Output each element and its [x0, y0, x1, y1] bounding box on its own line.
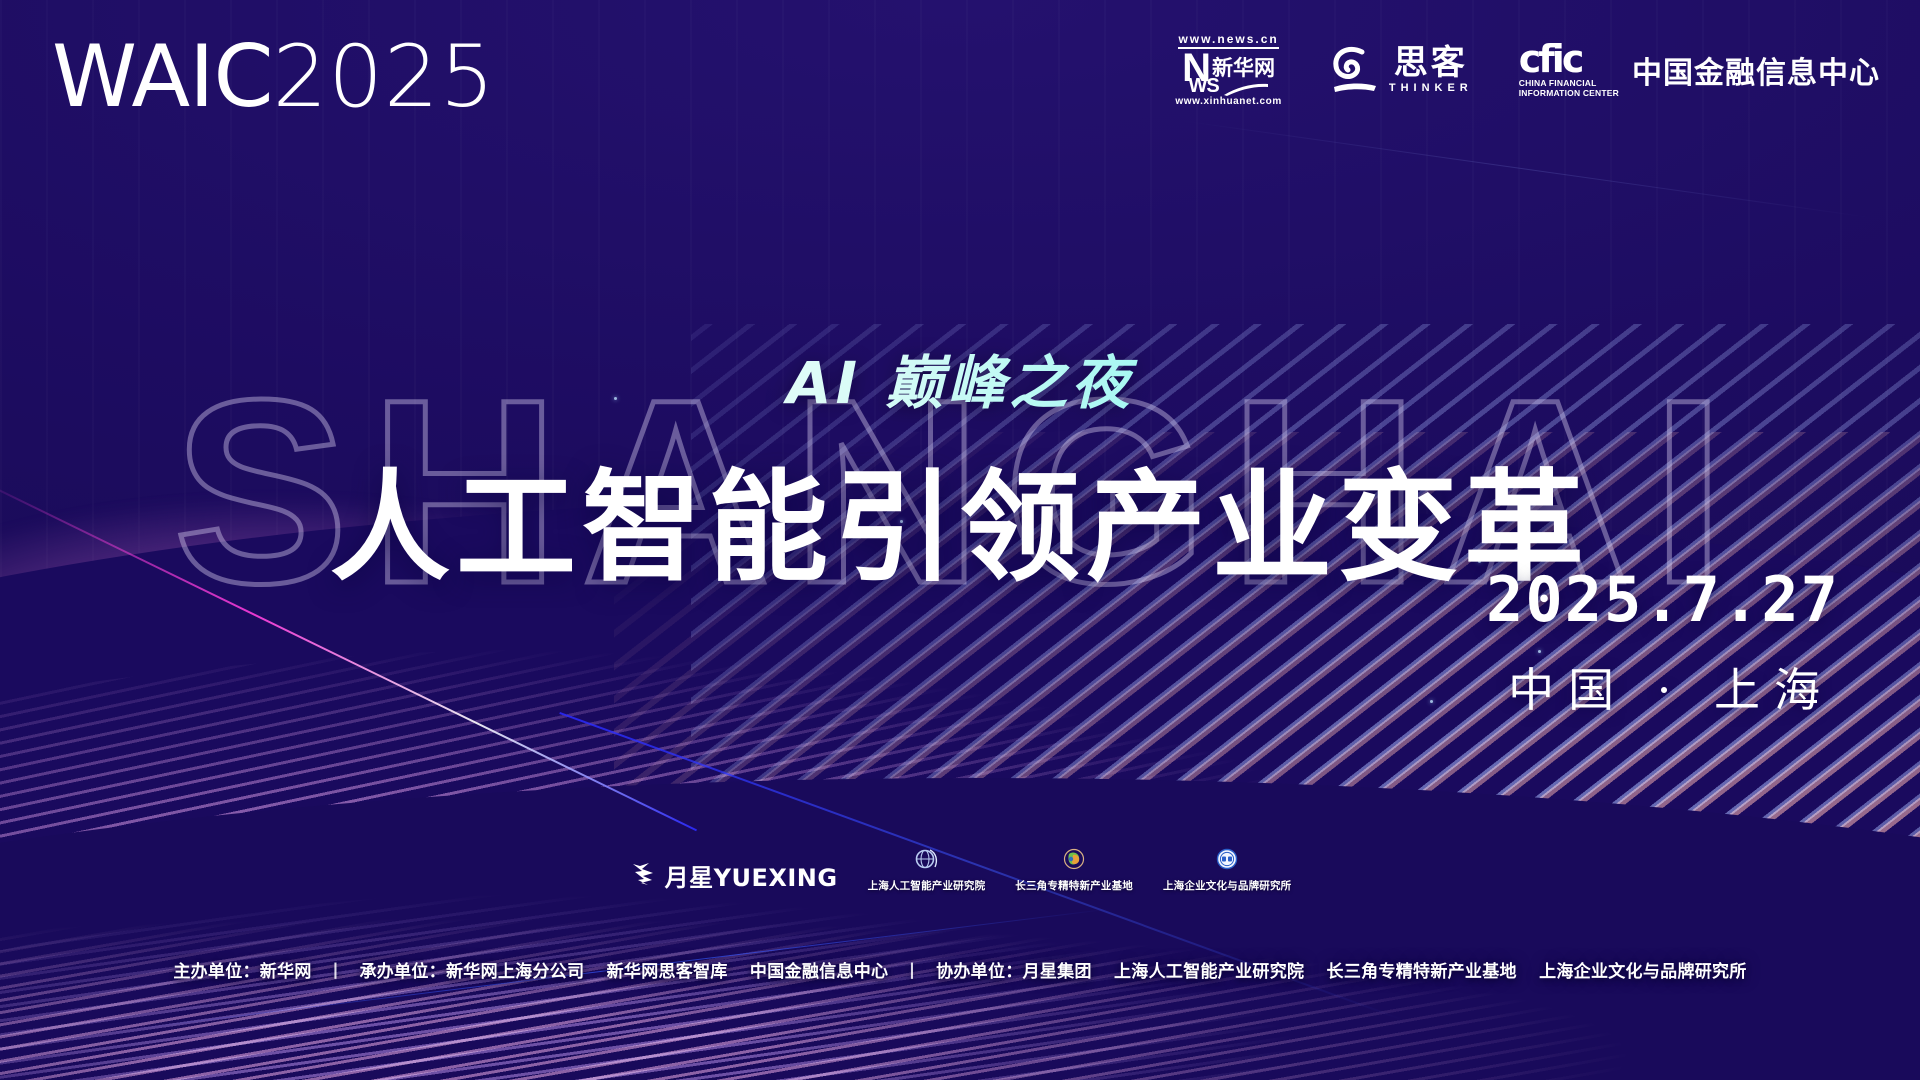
partner-logo-bar: www.news.cn N 新华网 WS www.xinhuanet.com	[1175, 34, 1880, 106]
xinhua-ws-letters: WS	[1188, 76, 1218, 96]
yrd-base-label: 长三角专精特新产业基地	[1015, 878, 1133, 893]
footer-organizer-3: 中国金融信息中心	[750, 962, 888, 982]
secbri-label: 上海企业文化与品牌研究所	[1163, 878, 1291, 893]
footer-coorganizer-2: 上海人工智能产业研究院	[1114, 962, 1304, 982]
footer-organizer: 承办单位：新华网上海分公司	[359, 962, 584, 982]
xinhua-cn-name: 新华网	[1212, 58, 1275, 79]
thinker-en-name: THINKER	[1389, 83, 1473, 94]
waic-logo-text: WAIC	[52, 27, 273, 127]
event-date: 2025.7.27	[1486, 563, 1840, 636]
footer-credits: 主办单位：新华网 丨 承办单位：新华网上海分公司 新华网思客智库 中国金融信息中…	[0, 957, 1920, 982]
xinhua-url-bottom: www.xinhuanet.com	[1175, 97, 1282, 107]
cfic-wordmark: cfic	[1519, 42, 1619, 76]
yuexing-label: 月星YUEXING	[665, 858, 838, 893]
sponsor-saiir[interactable]: 上海人工智能产业研究院	[868, 846, 986, 893]
footer-coorganizer-3: 长三角专精特新产业基地	[1327, 962, 1517, 982]
event-subtitle: AI 巅峰之夜	[0, 336, 1920, 420]
cfic-en-subtitle: CHINA FINANCIAL INFORMATION CENTER	[1519, 78, 1619, 98]
sponsor-yuexing[interactable]: 月星YUEXING	[629, 858, 838, 893]
partner-logo-cfic[interactable]: cfic CHINA FINANCIAL INFORMATION CENTER …	[1519, 42, 1880, 98]
sponsor-secbri[interactable]: 上海企业文化与品牌研究所	[1163, 846, 1291, 893]
footer-separator-2: 丨	[895, 962, 930, 982]
yrd-base-emblem-icon	[1059, 846, 1089, 876]
thinker-cn-name: 思客	[1394, 46, 1468, 80]
footer-separator-1: 丨	[318, 962, 353, 982]
sparkle-dot	[1430, 700, 1433, 703]
banner-canvas: SHANGHAI WAIC2025 www.news.cn N 新华网 WS	[0, 0, 1920, 1080]
saiir-label: 上海人工智能产业研究院	[868, 878, 986, 893]
sponsor-strip: 月星YUEXING 上海人工智能产业研究院	[0, 846, 1920, 893]
partner-logo-thinker[interactable]: 思客 THINKER	[1328, 43, 1473, 98]
sponsor-yrd-base[interactable]: 长三角专精特新产业基地	[1015, 846, 1133, 893]
partner-logo-xinhua-net[interactable]: www.news.cn N 新华网 WS www.xinhuanet.com	[1175, 33, 1282, 108]
yuexing-bird-icon	[629, 858, 659, 893]
secbri-seal-icon	[1212, 846, 1242, 876]
cfic-en-line-2: INFORMATION CENTER	[1519, 88, 1619, 98]
footer-coorganizer-4: 上海企业文化与品牌研究所	[1539, 962, 1747, 982]
cfic-cn-name: 中国金融信息中心	[1632, 48, 1880, 92]
waic-logo: WAIC2025	[52, 34, 495, 120]
xinhua-swoosh-icon	[1223, 83, 1269, 96]
footer-coorganizer: 协办单位：月星集团	[936, 962, 1092, 982]
thinker-spiral-icon	[1328, 43, 1380, 98]
sparkle-dot	[1538, 650, 1541, 653]
waic-logo-year: 2025	[273, 27, 496, 127]
footer-host: 主办单位：新华网	[173, 962, 311, 982]
event-place: 中国 · 上海	[1508, 654, 1834, 720]
cfic-en-line-1: CHINA FINANCIAL	[1519, 78, 1619, 88]
saiir-globe-icon	[911, 846, 941, 876]
footer-organizer-2: 新华网思客智库	[607, 962, 728, 982]
